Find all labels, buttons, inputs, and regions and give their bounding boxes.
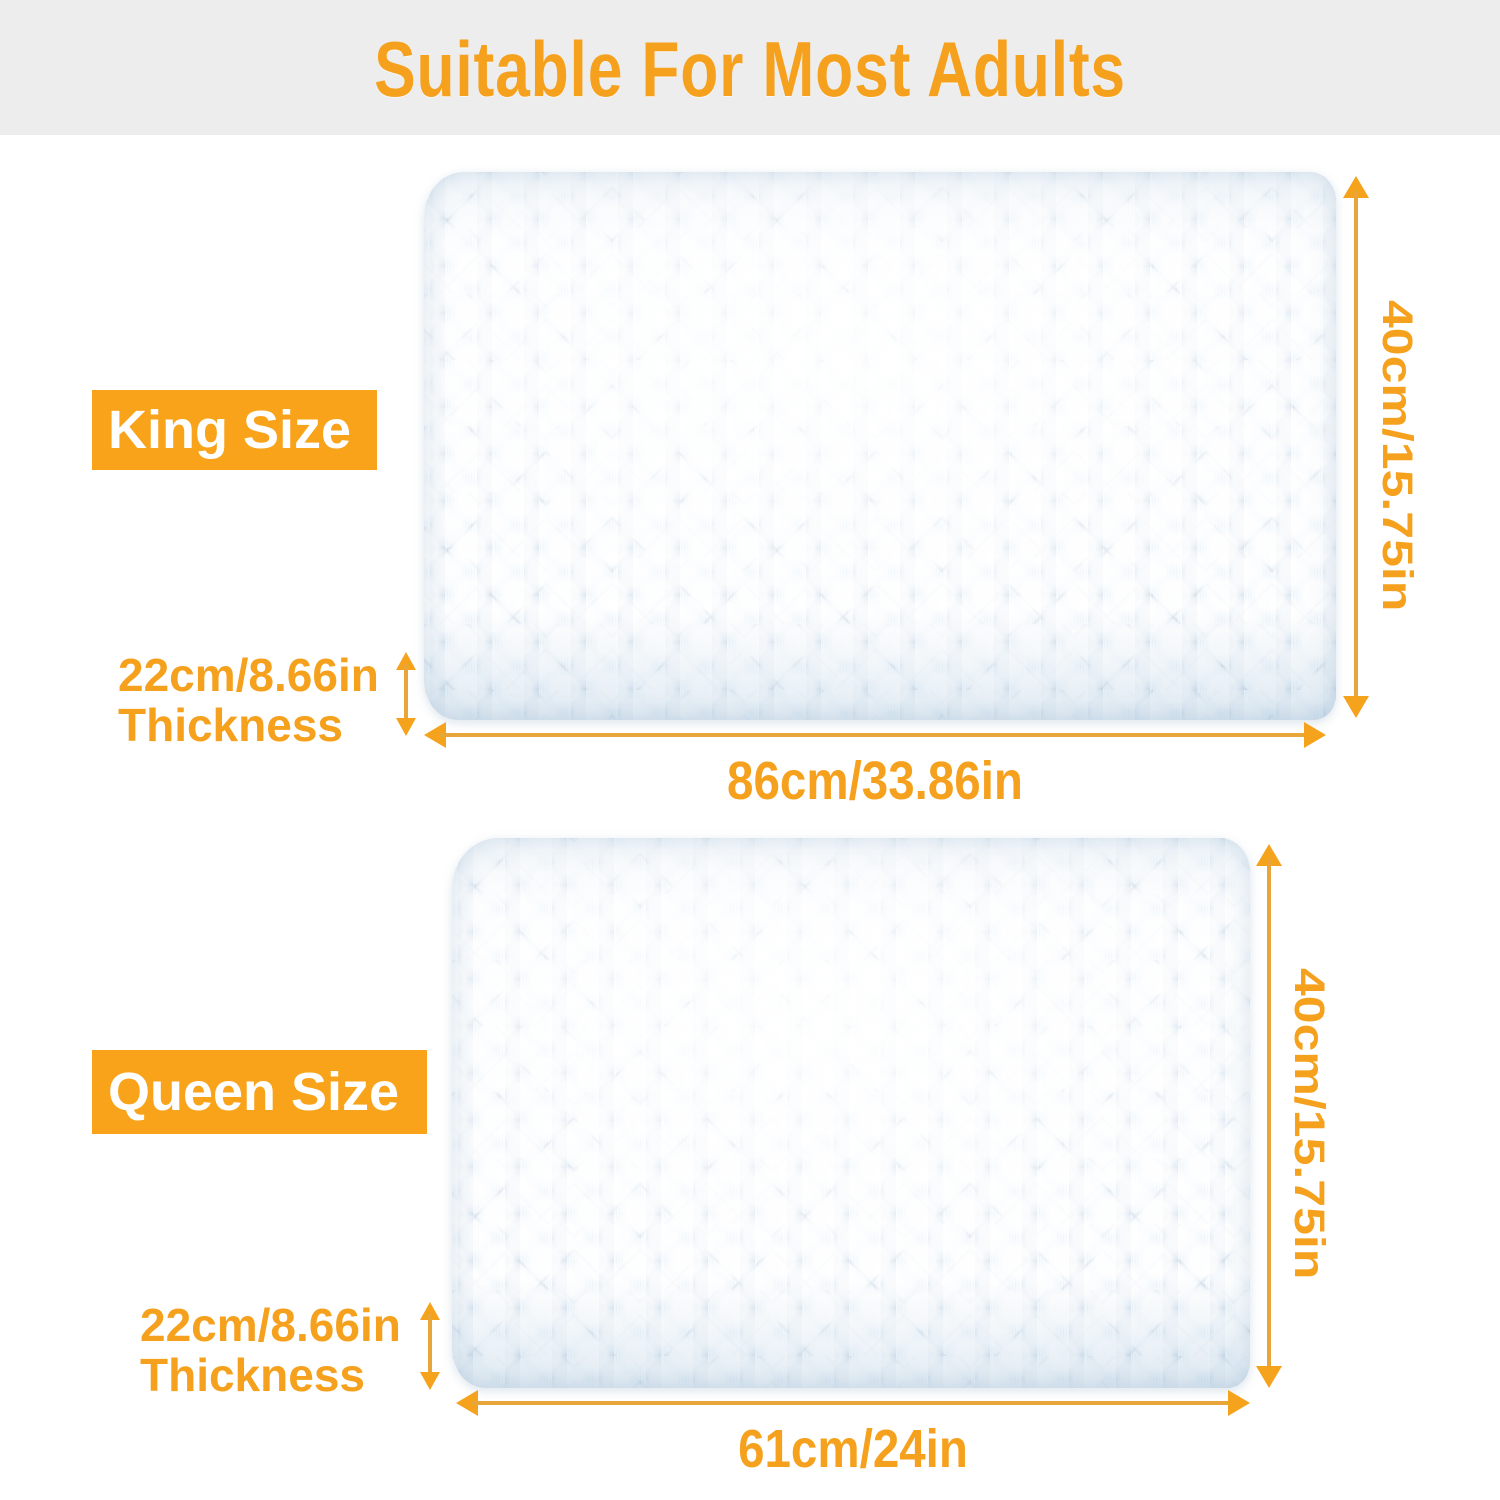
dimension-arrow-king-thickness [396,652,416,736]
thickness-value-queen: 22cm/8.66in [140,1300,401,1350]
pillow-image-queen [452,838,1250,1388]
arrowhead-down-icon [1343,696,1369,718]
dimension-arrow-king-width [424,722,1326,748]
thickness-label-queen: 22cm/8.66in Thickness [140,1300,401,1400]
dimension-arrow-king-height [1343,176,1369,718]
page-title: Suitable For Most Adults [150,26,1350,112]
dimension-arrow-queen-width [456,1390,1250,1416]
arrow-shaft [471,1401,1235,1405]
size-badge-queen-label: Queen Size [108,1065,399,1119]
dimension-label-king-width: 86cm/33.86in [478,752,1272,810]
dimension-arrow-queen-height [1256,844,1282,1388]
arrowhead-down-icon [396,718,416,736]
arrow-shaft [439,733,1311,737]
arrow-shaft [1267,859,1271,1373]
pillow-image-king [424,172,1336,720]
dimension-label-king-height: 40cm/15.75in [1375,300,1420,611]
arrow-shaft [404,664,408,724]
pillow-shading [424,172,1336,720]
arrowhead-right-icon [1228,1390,1250,1416]
thickness-word-king: Thickness [118,700,379,750]
arrowhead-right-icon [1304,722,1326,748]
infographic-page: Suitable For Most Adults King Size 40cm/… [0,0,1500,1500]
arrowhead-down-icon [420,1372,440,1390]
dimension-label-queen-height: 40cm/15.75in [1287,968,1332,1279]
thickness-label-king: 22cm/8.66in Thickness [118,650,379,750]
arrow-shaft [428,1314,432,1378]
thickness-word-queen: Thickness [140,1350,401,1400]
arrowhead-down-icon [1256,1366,1282,1388]
arrow-shaft [1354,191,1358,703]
pillow-shading [452,838,1250,1388]
dimension-arrow-queen-thickness [420,1302,440,1390]
dimension-label-queen-width: 61cm/24in [504,1420,1203,1478]
size-badge-king: King Size [92,390,377,470]
size-badge-queen: Queen Size [92,1050,427,1134]
thickness-value-king: 22cm/8.66in [118,650,379,700]
size-badge-king-label: King Size [108,403,351,457]
